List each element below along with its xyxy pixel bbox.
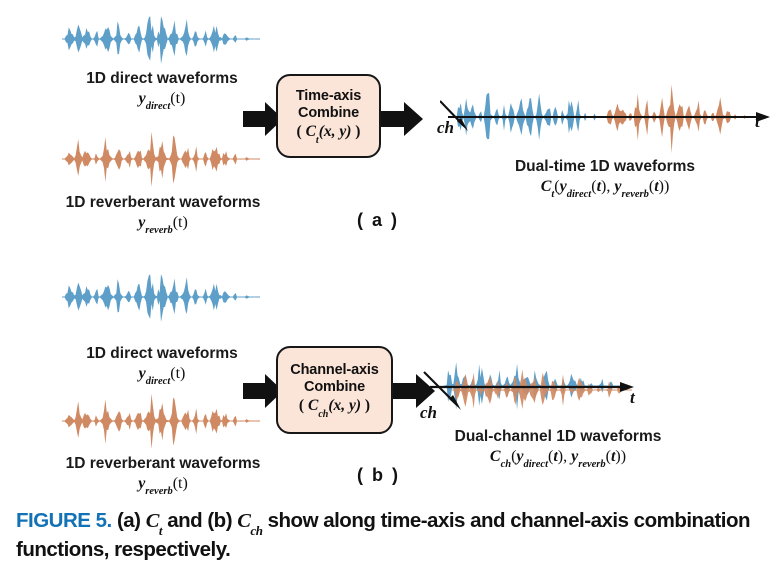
axis-label-ch-a: ch [437,118,454,138]
combine-title-line1-b: Channel-axis [290,362,378,378]
waveform-dual-time-output [440,78,770,156]
output-label-b: Dual-channel 1D waveforms [408,428,708,446]
axis-label-ch-b: ch [420,403,437,423]
input-math-direct-a: ydirect(t) [58,90,266,110]
figure-number: FIGURE 5. [16,509,112,532]
combine-math-b: ( Cch(x, y) ) [299,397,370,417]
waveform-dual-channel-output [420,344,650,430]
output-math-a: Ct(ydirect(t), yreverb(t)) [455,178,755,198]
combine-title-line2-b: Combine [304,379,365,395]
caption-symbol-ct: Ct [146,510,162,532]
arrow-out-combine-a [381,102,423,141]
input-label-direct-a: 1D direct waveforms [58,70,266,88]
output-math-b: Cch(ydirect(t), yreverb(t)) [408,448,708,468]
waveform-reverb-b [62,390,260,452]
subfigure-tag-a: ( a ) [357,210,399,231]
waveform-reverb-a [62,128,260,190]
figure-caption: FIGURE 5. (a) Ct and (b) Cch show along … [16,508,764,564]
input-label-direct-b: 1D direct waveforms [58,345,266,363]
channel-axis-combine-box[interactable]: Channel-axis Combine ( Cch(x, y) ) [276,346,393,434]
time-axis-combine-box[interactable]: Time-axis Combine ( Ct(x, y) ) [276,74,381,158]
subfigure-tag-b: ( b ) [357,465,400,486]
input-label-reverb-a: 1D reverberant waveforms [48,194,278,212]
caption-part1: (a) [112,509,146,532]
axis-label-t-b: t [630,388,635,408]
input-math-direct-b: ydirect(t) [58,365,266,385]
combine-title-line2-a: Combine [298,105,359,121]
output-label-a: Dual-time 1D waveforms [455,158,755,176]
input-math-reverb-b: yreverb(t) [48,475,278,495]
input-label-reverb-b: 1D reverberant waveforms [48,455,278,473]
caption-part2: and (b) [162,509,237,532]
caption-symbol-cch: Cch [237,510,262,532]
figure-diagram: 1D direct waveforms ydirect(t) 1D reverb… [0,0,778,505]
waveform-direct-a [62,8,260,70]
combine-math-a: ( Ct(x, y) ) [297,123,361,143]
combine-title-line1-a: Time-axis [296,88,361,104]
waveform-direct-b [62,266,260,328]
input-math-reverb-a: yreverb(t) [48,214,278,234]
axis-label-t-a: t [755,112,760,132]
